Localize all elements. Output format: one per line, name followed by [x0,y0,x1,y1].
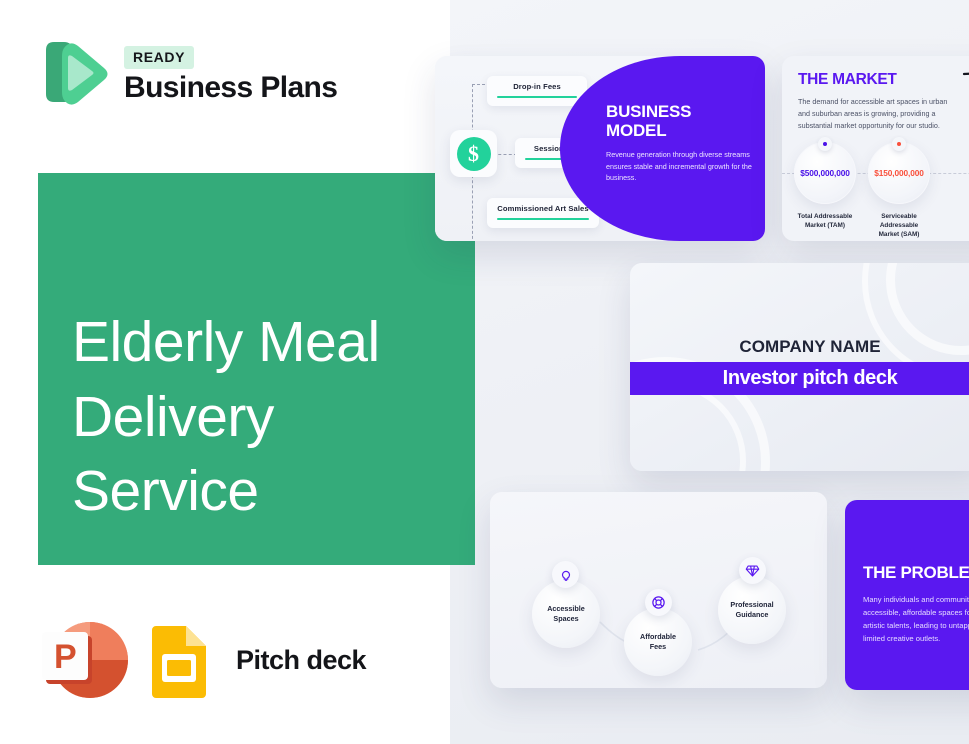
bm-item-0-label: Drop-in Fees [497,82,577,91]
mk-metric-0[interactable]: $500,000,000 Total Addressable Market (T… [794,142,856,239]
bm-item-0[interactable]: Drop-in Fees [487,76,587,106]
sol-node-2-label-1: Professional [730,600,773,610]
sol-node-1-label-1: Affordable [640,632,676,642]
bm-item-0-bar [497,96,577,98]
play-triangle-logo-icon [38,36,110,112]
powerpoint-icon: P [40,618,130,702]
slide-business-model[interactable]: $ Drop-in Fees Session Workshops Commiss… [435,56,765,241]
diamond-icon [739,557,766,584]
pb-body: Many individuals and communities lack ac… [863,593,969,645]
ready-badge: READY [124,46,194,69]
bm-item-2-label: Commissioned Art Sales [497,204,589,213]
mk-metric-1-caption-1: Serviceable Addressable [868,212,930,230]
brand-name: Business Plans [124,72,337,104]
curved-arrow-icon [962,70,969,112]
lightbulb-icon [552,561,579,588]
slide-company-name[interactable]: COMPANY NAME Investor pitch deck [630,263,969,471]
mk-metric-1-ring: $150,000,000 [868,142,930,204]
lifebuoy-icon [645,589,672,616]
cn-subtitle: Investor pitch deck [723,367,898,390]
pb-heading: THE PROBLEM [863,563,969,583]
poster-canvas: READY Business Plans Elderly Meal Delive… [0,0,969,744]
sol-node-0-label: Accessible Spaces [547,604,585,625]
bm-item-2-bar [497,218,589,220]
svg-text:P: P [54,638,77,676]
slide-the-market[interactable]: THE MARKET The demand for accessible art… [782,56,969,241]
cn-subtitle-band: Investor pitch deck [630,362,969,395]
bm-heading-line-2: MODEL [606,121,756,140]
sol-node-2-label-2: Guidance [730,610,773,620]
hero-title: Elderly Meal Delivery Service [72,305,472,529]
hero-title-line-2: Delivery Service [72,380,472,529]
mk-metric-0-caption-1: Total Addressable [794,212,856,221]
format-row: P Pitch deck [40,618,366,702]
mk-metric-1-dot [892,137,906,151]
google-slides-icon [148,622,210,698]
bm-body: Revenue generation through diverse strea… [606,149,756,184]
brand-wordmark: READY Business Plans [124,44,337,104]
mk-metric-0-dot [818,137,832,151]
sol-node-2[interactable]: Professional Guidance [718,576,786,644]
sol-node-group: Accessible Spaces Affordable Fees [490,570,827,682]
mk-metric-0-value: $500,000,000 [800,168,850,178]
sol-node-1[interactable]: Affordable Fees [624,608,692,676]
mk-metric-0-ring: $500,000,000 [794,142,856,204]
pitch-deck-label: Pitch deck [236,645,366,676]
mk-metric-1-value: $150,000,000 [874,168,924,178]
hero-title-line-1: Elderly Meal [72,305,472,380]
mk-metric-0-caption: Total Addressable Market (TAM) [794,212,856,230]
brand-logo[interactable]: READY Business Plans [38,36,337,112]
sol-node-1-label: Affordable Fees [640,632,676,653]
bm-heading-line-1: BUSINESS [606,102,756,121]
cn-company-name: COMPANY NAME [630,337,969,357]
mk-heading: THE MARKET [798,71,969,89]
sol-node-0[interactable]: Accessible Spaces [532,580,600,648]
sol-node-1-label-2: Fees [640,642,676,652]
mk-metric-1-caption: Serviceable Addressable Market (SAM) [868,212,930,239]
bm-blob-content: BUSINESS MODEL Revenue generation throug… [606,102,756,184]
sol-node-0-label-1: Accessible [547,604,585,614]
mk-metrics: $500,000,000 Total Addressable Market (T… [794,142,930,239]
mk-metric-1-caption-2: Market (SAM) [868,230,930,239]
mk-header: THE MARKET The demand for accessible art… [782,56,969,132]
sol-node-2-label: Professional Guidance [730,600,773,621]
mk-metric-1[interactable]: $150,000,000 Serviceable Addressable Mar… [868,142,930,239]
sol-node-0-label-2: Spaces [547,614,585,624]
bm-dollar-icon-box: $ [450,130,497,177]
slide-the-problem[interactable]: THE PROBLEM Many individuals and communi… [845,500,969,690]
dollar-circle-icon: $ [457,137,491,171]
slide-the-solution[interactable]: THE SOLUTION Artistic Expressions Studio… [490,492,827,688]
mk-body: The demand for accessible art spaces in … [798,96,950,132]
mk-metric-0-caption-2: Market (TAM) [794,221,856,230]
